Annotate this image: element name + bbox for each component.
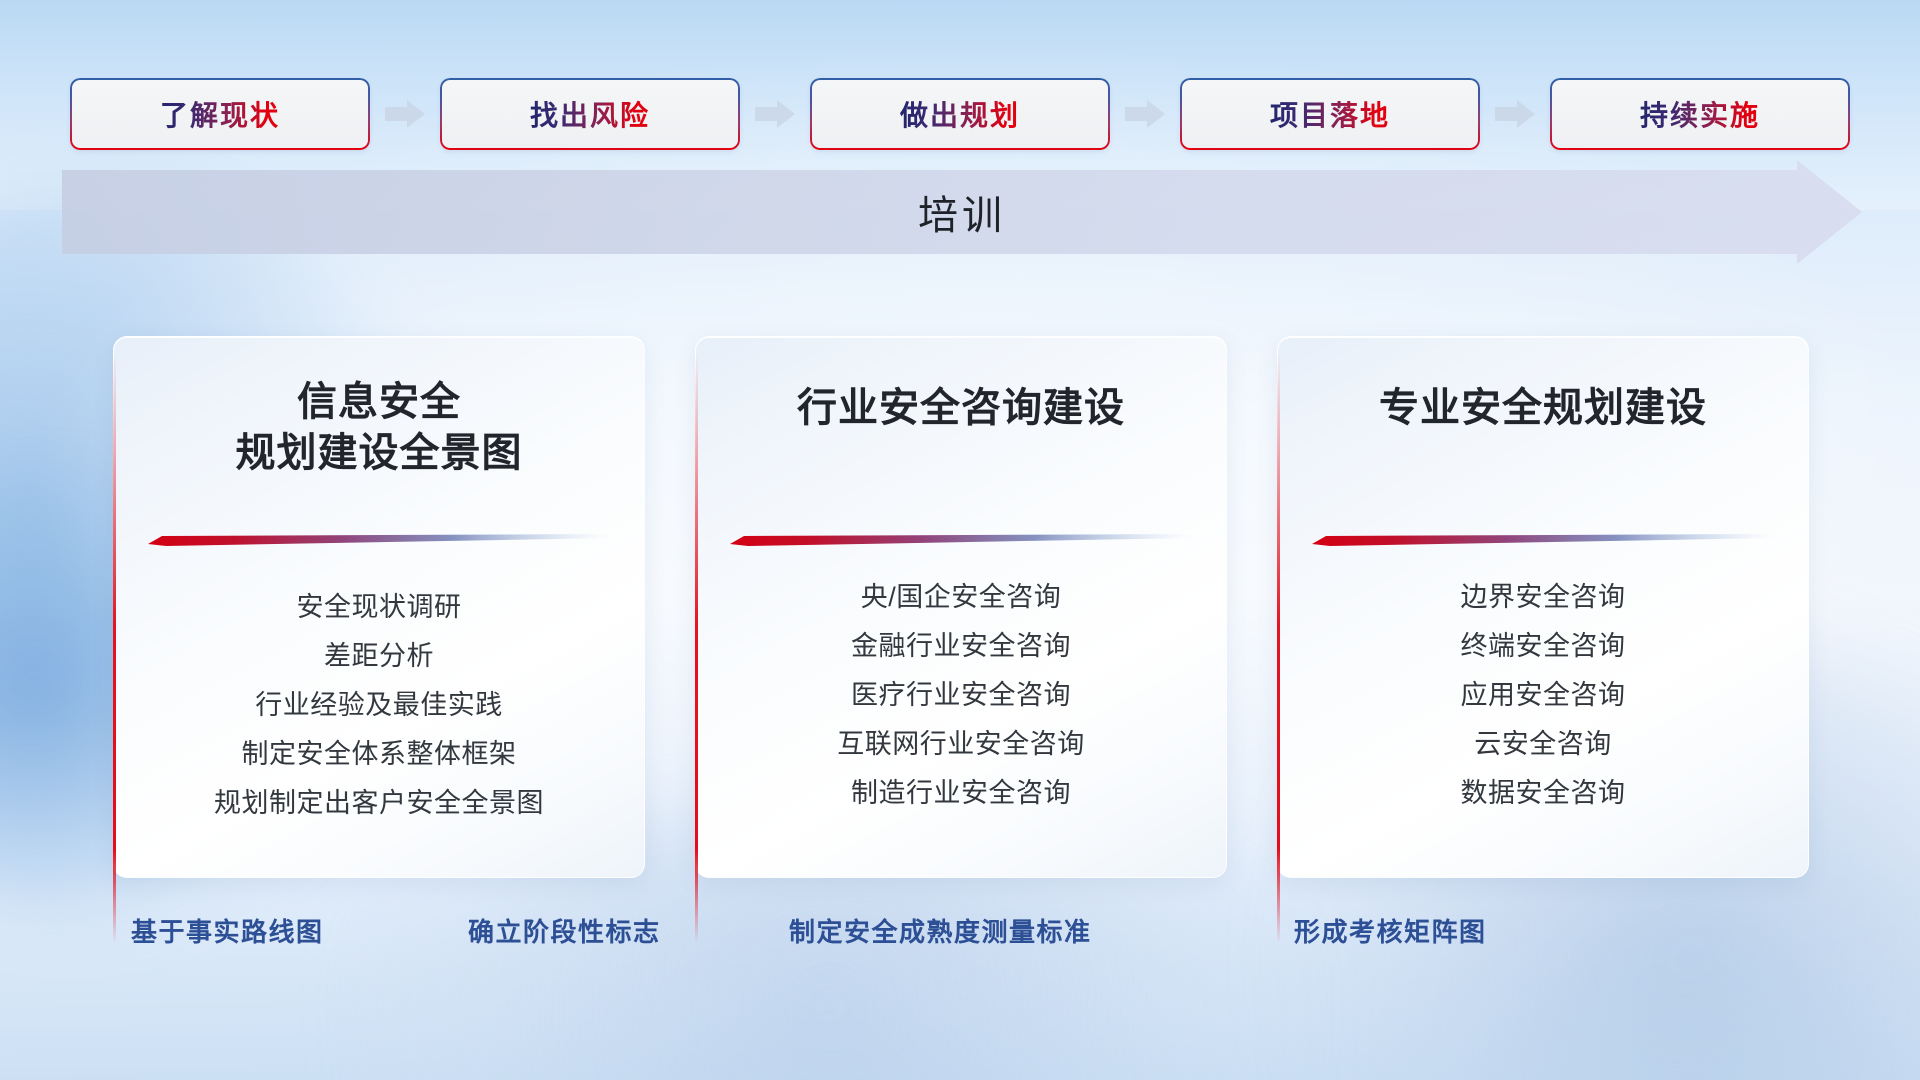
step-box-3[interactable]: 做出规划 bbox=[810, 78, 1110, 150]
list-item: 制造行业安全咨询 bbox=[696, 769, 1226, 818]
chevron-right-icon bbox=[753, 98, 797, 130]
list-item: 规划制定出客户安全全景图 bbox=[114, 779, 644, 828]
card-divider bbox=[148, 533, 610, 545]
list-item: 数据安全咨询 bbox=[1278, 769, 1808, 818]
list-item: 医疗行业安全咨询 bbox=[696, 671, 1226, 720]
step-label-5: 持续实施 bbox=[1640, 94, 1760, 134]
list-item: 边界安全咨询 bbox=[1278, 573, 1808, 622]
list-item: 互联网行业安全咨询 bbox=[696, 720, 1226, 769]
card-row: 信息安全 规划建设全景图 bbox=[0, 336, 1920, 876]
card-divider bbox=[1312, 533, 1774, 545]
card-title: 信息安全 规划建设全景图 bbox=[114, 377, 644, 479]
training-banner: 培训 bbox=[62, 160, 1862, 264]
process-step-row: 了解现状 找出风险 做出规划 项目落地 bbox=[70, 76, 1850, 151]
step-box-5[interactable]: 持续实施 bbox=[1550, 78, 1850, 150]
chevron-right-icon bbox=[1493, 98, 1537, 130]
list-item: 行业经验及最佳实践 bbox=[114, 681, 644, 730]
card-divider bbox=[730, 533, 1192, 545]
card-title: 行业安全咨询建设 bbox=[696, 383, 1226, 434]
bottom-label-3: 制定安全成熟度测量标准 bbox=[789, 912, 1092, 949]
bottom-label-4: 形成考核矩阵图 bbox=[1294, 912, 1487, 949]
card-professional-security-planning[interactable]: 专业安全规划建设 bbox=[1277, 336, 1809, 878]
step-box-4[interactable]: 项目落地 bbox=[1180, 78, 1480, 150]
list-item: 制定安全体系整体框架 bbox=[114, 730, 644, 779]
list-item: 金融行业安全咨询 bbox=[696, 622, 1226, 671]
step-label-1: 了解现状 bbox=[160, 94, 280, 134]
card-item-list: 央/国企安全咨询 金融行业安全咨询 医疗行业安全咨询 互联网行业安全咨询 制造行… bbox=[696, 573, 1226, 818]
step-label-4: 项目落地 bbox=[1270, 94, 1390, 134]
card-item-list: 安全现状调研 差距分析 行业经验及最佳实践 制定安全体系整体框架 规划制定出客户… bbox=[114, 583, 644, 828]
card-info-security-blueprint[interactable]: 信息安全 规划建设全景图 bbox=[113, 336, 645, 878]
list-item: 央/国企安全咨询 bbox=[696, 573, 1226, 622]
training-banner-label: 培训 bbox=[62, 160, 1862, 264]
chevron-right-icon bbox=[1123, 98, 1167, 130]
card-industry-security-consulting[interactable]: 行业安全咨询建设 bbox=[695, 336, 1227, 878]
step-box-1[interactable]: 了解现状 bbox=[70, 78, 370, 150]
chevron-right-icon bbox=[383, 98, 427, 130]
card-title: 专业安全规划建设 bbox=[1278, 383, 1808, 434]
step-label-3: 做出规划 bbox=[900, 94, 1020, 134]
bottom-label-row: 基于事实路线图 确立阶段性标志 制定安全成熟度测量标准 形成考核矩阵图 bbox=[0, 912, 1920, 962]
list-item: 安全现状调研 bbox=[114, 583, 644, 632]
list-item: 差距分析 bbox=[114, 632, 644, 681]
card-item-list: 边界安全咨询 终端安全咨询 应用安全咨询 云安全咨询 数据安全咨询 bbox=[1278, 573, 1808, 818]
bottom-label-2: 确立阶段性标志 bbox=[468, 912, 661, 949]
step-box-2[interactable]: 找出风险 bbox=[440, 78, 740, 150]
list-item: 终端安全咨询 bbox=[1278, 622, 1808, 671]
list-item: 云安全咨询 bbox=[1278, 720, 1808, 769]
list-item: 应用安全咨询 bbox=[1278, 671, 1808, 720]
step-label-2: 找出风险 bbox=[530, 94, 650, 134]
bottom-label-1: 基于事实路线图 bbox=[131, 912, 324, 949]
